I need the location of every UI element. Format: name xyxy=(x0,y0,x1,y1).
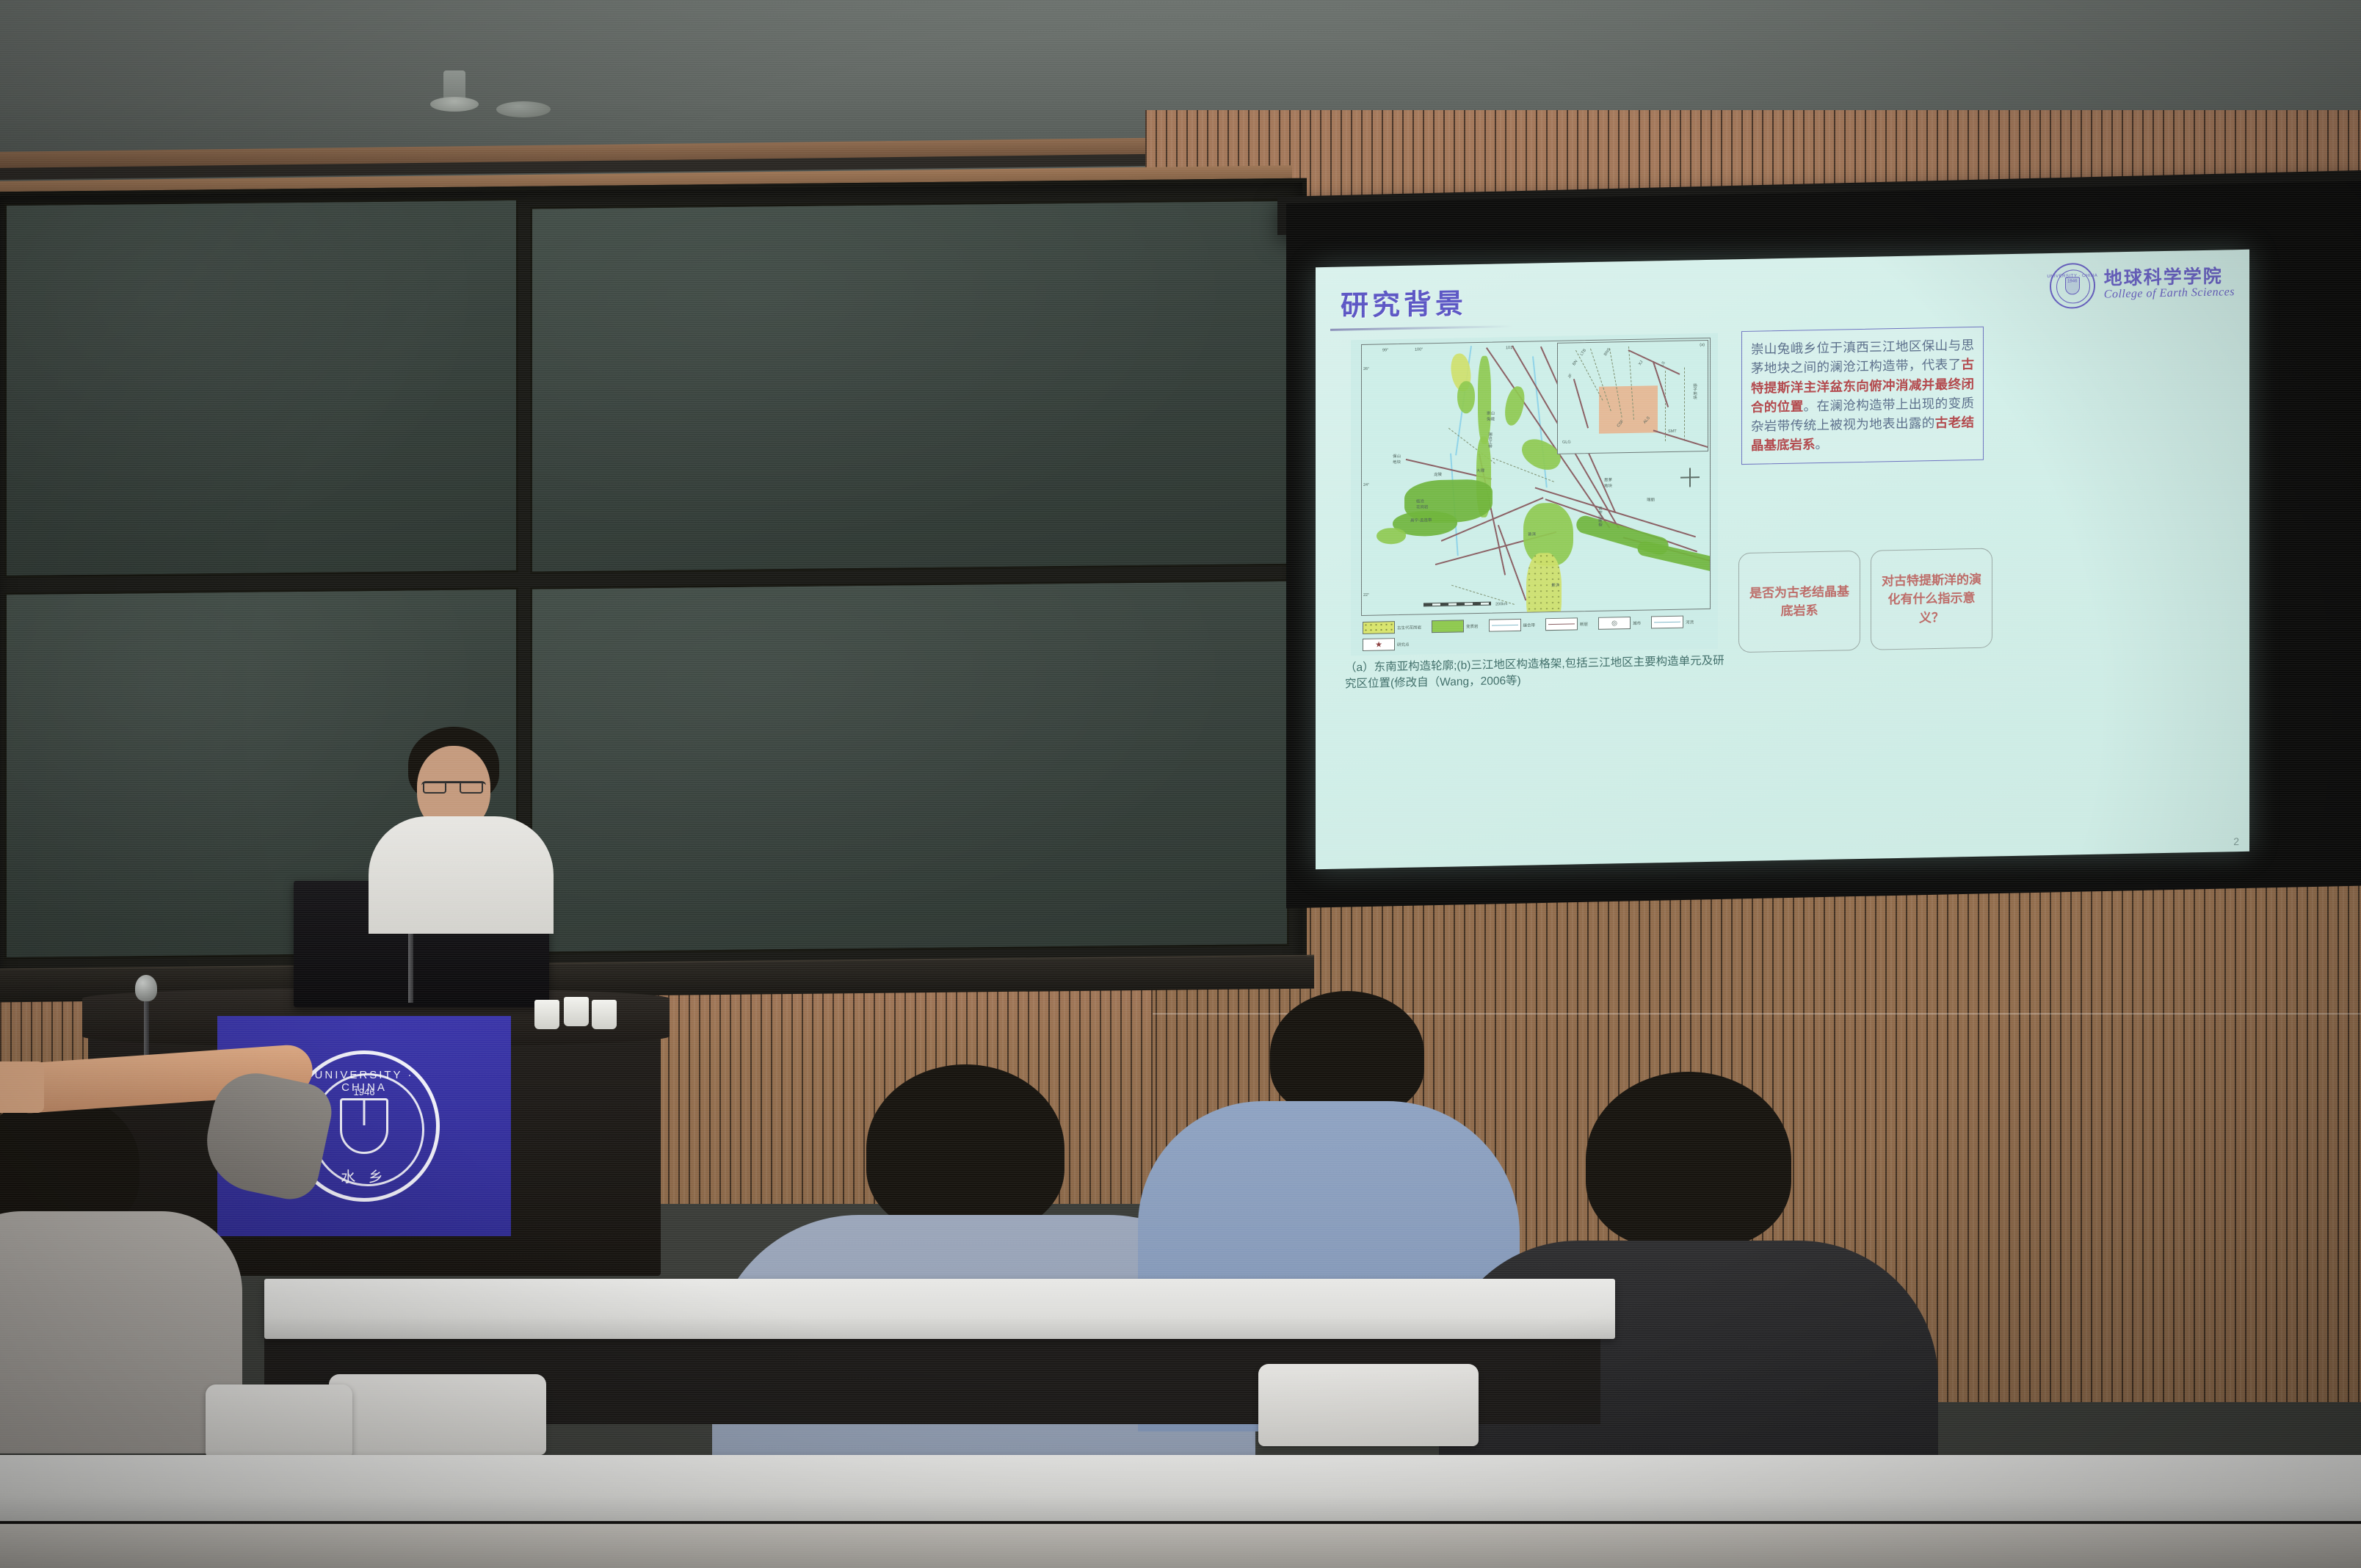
inset-label-GLG: GLG xyxy=(1562,440,1571,445)
chalkboard-panel-lower-right xyxy=(530,579,1289,954)
microphone-icon xyxy=(135,975,157,1001)
legend-item: 变质岩 xyxy=(1432,620,1479,633)
slide-body-textbox: 崇山兔峨乡位于滇西三江地区保山与思茅地块之间的澜沧江构造带，代表了古特提斯洋主洋… xyxy=(1741,327,1984,465)
scale-bar xyxy=(1424,602,1491,607)
question-box-row: 是否为古老结晶基底岩系 对古特提斯洋的演化有什么指示意义？ xyxy=(1738,548,1992,653)
legend-swatch-granite xyxy=(1363,621,1395,634)
audience-hand xyxy=(0,1061,44,1113)
lon-tick-100: 100° xyxy=(1415,347,1423,352)
chair xyxy=(206,1384,352,1458)
inset-fault-line xyxy=(1653,429,1708,447)
inset-map-panel-a: (a) LTB BNS BN JF XJ LS SMT ALS CSF GLG … xyxy=(1557,340,1708,454)
legend-swatch-study-site: ★ xyxy=(1363,638,1395,651)
map-label-changning: 昌宁-孟连带 xyxy=(1410,517,1432,523)
map-frame: 26° 24° 22° 99° 100° 101° 102° 保山地块 思茅地块… xyxy=(1361,338,1711,616)
chalkboard-panel-upper-right xyxy=(530,199,1289,574)
legend-swatch-metamorphic xyxy=(1432,620,1464,633)
sprinkler-icon xyxy=(443,70,465,104)
map-label-ailaoshan: 哀牢山断裂 xyxy=(1597,507,1603,527)
map-label-city-ruili: 瑞丽 xyxy=(1647,496,1655,502)
study-area-box xyxy=(1599,385,1658,434)
presenter xyxy=(382,727,543,918)
legend-swatch-fault xyxy=(1545,617,1578,631)
legend-label: 古生代花岗岩 xyxy=(1397,624,1421,631)
outcrop-belt xyxy=(1535,614,1588,616)
map-label-lincang: 临沧花岗岩 xyxy=(1416,498,1429,509)
compass-icon xyxy=(1680,468,1700,487)
legend-item: 河流 xyxy=(1651,615,1694,628)
map-label-chongshan: 崇山兔峨 xyxy=(1487,410,1495,422)
chair xyxy=(1258,1364,1479,1446)
lon-tick-99: 99° xyxy=(1382,348,1388,352)
lat-tick-22: 22° xyxy=(1363,593,1369,598)
scale-bar-label: 200km xyxy=(1495,602,1508,606)
inset-label-SMT: SMT xyxy=(1668,429,1677,434)
legend-swatch-river xyxy=(1651,616,1683,629)
legend-swatch-city: ◎ xyxy=(1598,617,1631,630)
inset-label-a: (a) xyxy=(1700,343,1705,347)
slide-title: 研究背景 xyxy=(1341,280,1467,323)
inset-dashed-boundary xyxy=(1665,371,1666,441)
department-logo: UNIVERSITY · CHINA 1946 地球科学学院 College o… xyxy=(2050,260,2235,309)
university-seal-icon: UNIVERSITY · CHINA 1946 xyxy=(2050,263,2095,309)
outcrop-belt xyxy=(1636,540,1711,576)
smoke-detector-icon xyxy=(496,101,551,117)
legend-label: 缝合带 xyxy=(1523,622,1536,628)
geological-map-figure: 26° 24° 22° 99° 100° 101° 102° 保山地块 思茅地块… xyxy=(1351,333,1718,656)
outcrop-belt xyxy=(1457,381,1475,413)
body-text-part: 。 xyxy=(1816,437,1829,451)
inset-label-XJ: XJ xyxy=(1638,360,1644,366)
question-box-2: 对古特提斯洋的演化有什么指示意义？ xyxy=(1871,548,1992,650)
inset-label-JF: JF xyxy=(1567,373,1573,379)
lecture-hall-scene: 研究背景 UNIVERSITY · CHINA 1946 地球科学学院 Coll… xyxy=(0,0,2361,1568)
slide-title-rule xyxy=(1330,325,1514,331)
legend-item: ★ 研究点 xyxy=(1363,638,1410,651)
legend-label: 河流 xyxy=(1686,619,1694,625)
outcrop-belt xyxy=(1478,356,1491,444)
presenter-glasses-lens xyxy=(423,781,446,794)
figure-caption: （a）东南亚构造轮廓;(b)三江地区构造格架,包括三江地区主要构造单元及研究区位… xyxy=(1345,653,1727,692)
chalkboard-frame xyxy=(0,178,1307,1000)
legend-item: 缝合带 xyxy=(1489,618,1536,631)
legend-swatch-suture xyxy=(1489,619,1521,632)
map-legend: 古生代花岗岩 变质岩 缝合带 断层 ◎ 城市 xyxy=(1363,615,1713,651)
slide-page-number: 2 xyxy=(2233,835,2239,847)
inset-label-LTB: LTB xyxy=(1580,349,1587,357)
seal-shield-icon xyxy=(2065,277,2080,294)
presenter-torso xyxy=(369,816,554,934)
map-label-simao: 思茅地块 xyxy=(1604,476,1612,488)
outcrop-belt xyxy=(1377,528,1406,545)
desk-row-front xyxy=(0,1455,2361,1521)
paper-cup xyxy=(592,1000,617,1029)
chalkboard-panel-upper-left xyxy=(4,198,518,578)
lat-tick-24: 24° xyxy=(1363,483,1369,487)
question-box-1: 是否为古老结晶基底岩系 xyxy=(1738,551,1860,653)
legend-label: 城市 xyxy=(1633,620,1641,625)
legend-label: 断层 xyxy=(1580,621,1588,627)
inset-label-yangtze: 扬子地块 xyxy=(1691,383,1697,399)
paper-cup xyxy=(534,1000,559,1029)
outcrop-belt xyxy=(1502,385,1528,427)
logo-chinese-name: 地球科学学院 xyxy=(2104,266,2235,288)
audience-hair xyxy=(1270,991,1424,1116)
legend-label: 研究点 xyxy=(1397,641,1410,647)
inset-fault-line xyxy=(1573,379,1589,428)
lat-tick-26: 26° xyxy=(1363,367,1369,371)
map-label-lancangjiang: 澜沧江带 xyxy=(1487,432,1493,449)
logo-english-name: College of Earth Sciences xyxy=(2104,286,2235,301)
map-label-baoshan: 保山地块 xyxy=(1393,453,1401,465)
inset-dashed-boundary xyxy=(1684,368,1685,441)
map-label-city-puer: 普洱 xyxy=(1528,531,1536,537)
desk-row-back xyxy=(264,1279,1615,1339)
projected-slide: 研究背景 UNIVERSITY · CHINA 1946 地球科学学院 Coll… xyxy=(1316,250,2249,869)
audience-hair xyxy=(1586,1072,1791,1248)
inset-label-BN: BN xyxy=(1572,360,1578,367)
map-label-city-jinghong: 景洪 xyxy=(1551,582,1559,588)
body-text-part: 崇山兔峨乡位于滇西三江地区保山与思茅地块之间的澜沧江构造带，代表了 xyxy=(1751,338,1974,376)
legend-item: 古生代花岗岩 xyxy=(1363,620,1421,634)
paper-cup xyxy=(564,997,589,1026)
legend-item: 断层 xyxy=(1545,617,1588,631)
legend-item: ◎ 城市 xyxy=(1598,617,1641,630)
map-label-city-longling: 龙陵 xyxy=(1434,471,1442,477)
chair xyxy=(329,1374,546,1455)
presenter-glasses-lens xyxy=(460,781,483,794)
floor xyxy=(0,1524,2361,1568)
lon-tick-101: 101° xyxy=(1506,346,1514,350)
legend-label: 变质岩 xyxy=(1466,623,1479,628)
map-label-city-dali: 大理 xyxy=(1476,468,1484,473)
audience-hair xyxy=(866,1064,1065,1233)
